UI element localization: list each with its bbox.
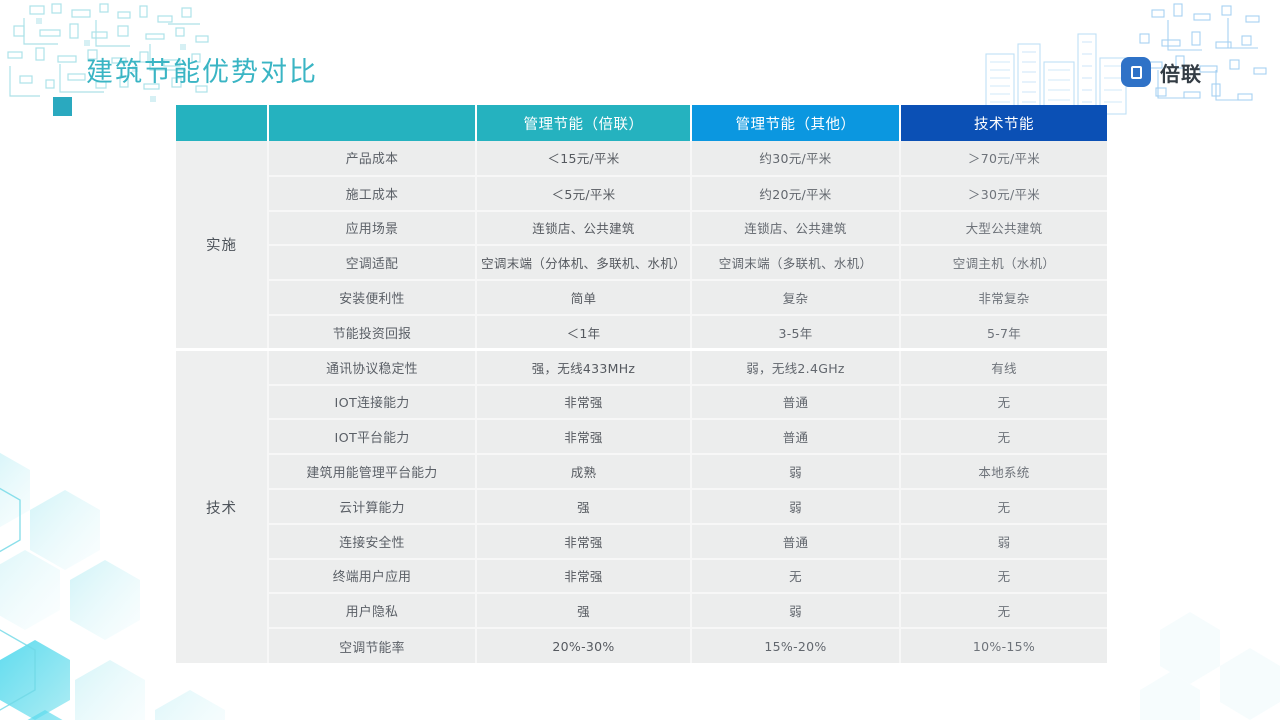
cell-v2: 弱 bbox=[691, 593, 900, 628]
table-header-row: 管理节能（倍联） 管理节能（其他） 技术节能 bbox=[176, 105, 1107, 141]
cell-v2: 普通 bbox=[691, 385, 900, 420]
row-group-label: 实施 bbox=[176, 141, 268, 350]
cell-v2: 约20元/平米 bbox=[691, 176, 900, 211]
metric-label: 连接安全性 bbox=[268, 524, 476, 559]
metric-label: 节能投资回报 bbox=[268, 315, 476, 350]
cell-v1: 连锁店、公共建筑 bbox=[476, 211, 691, 246]
table-row: 云计算能力强弱无 bbox=[176, 489, 1107, 524]
table-row: 施工成本＜5元/平米约20元/平米＞30元/平米 bbox=[176, 176, 1107, 211]
cell-v2: 连锁店、公共建筑 bbox=[691, 211, 900, 246]
cell-v2: 3-5年 bbox=[691, 315, 900, 350]
cell-v2: 普通 bbox=[691, 419, 900, 454]
accent-square bbox=[53, 97, 72, 116]
header-col-beilian: 管理节能（倍联） bbox=[476, 105, 691, 141]
cell-v3: 5-7年 bbox=[900, 315, 1107, 350]
cell-v3: ＞30元/平米 bbox=[900, 176, 1107, 211]
cell-v1: 非常强 bbox=[476, 524, 691, 559]
cell-v1: 非常强 bbox=[476, 385, 691, 420]
logo-inner-shape bbox=[1131, 66, 1142, 79]
cell-v3: 有线 bbox=[900, 350, 1107, 385]
table-row: IOT平台能力非常强普通无 bbox=[176, 419, 1107, 454]
cell-v3: 无 bbox=[900, 559, 1107, 594]
cell-v3: ＞70元/平米 bbox=[900, 141, 1107, 176]
cell-v3: 10%-15% bbox=[900, 628, 1107, 663]
brand-name: 倍联 bbox=[1160, 58, 1202, 87]
table-row: 连接安全性非常强普通弱 bbox=[176, 524, 1107, 559]
table-row: 空调适配空调末端（分体机、多联机、水机）空调末端（多联机、水机）空调主机（水机） bbox=[176, 245, 1107, 280]
table-row: 终端用户应用非常强无无 bbox=[176, 559, 1107, 594]
metric-label: 终端用户应用 bbox=[268, 559, 476, 594]
metric-label: 通讯协议稳定性 bbox=[268, 350, 476, 385]
cell-v1: 简单 bbox=[476, 280, 691, 315]
metric-label: IOT平台能力 bbox=[268, 419, 476, 454]
cell-v1: ＜15元/平米 bbox=[476, 141, 691, 176]
cell-v2: 空调末端（多联机、水机） bbox=[691, 245, 900, 280]
metric-label: 产品成本 bbox=[268, 141, 476, 176]
cell-v1: 20%-30% bbox=[476, 628, 691, 663]
metric-label: 用户隐私 bbox=[268, 593, 476, 628]
cell-v1: 非常强 bbox=[476, 419, 691, 454]
table-row: 用户隐私强弱无 bbox=[176, 593, 1107, 628]
metric-label: 云计算能力 bbox=[268, 489, 476, 524]
cell-v3: 无 bbox=[900, 489, 1107, 524]
metric-label: 应用场景 bbox=[268, 211, 476, 246]
row-group-label: 技术 bbox=[176, 350, 268, 663]
cell-v1: 强，无线433MHz bbox=[476, 350, 691, 385]
header-col-technical: 技术节能 bbox=[900, 105, 1107, 141]
cell-v2: 弱，无线2.4GHz bbox=[691, 350, 900, 385]
cell-v1: 非常强 bbox=[476, 559, 691, 594]
header-group-blank bbox=[176, 105, 268, 141]
cell-v1: 强 bbox=[476, 593, 691, 628]
table-row: 建筑用能管理平台能力成熟弱本地系统 bbox=[176, 454, 1107, 489]
metric-label: IOT连接能力 bbox=[268, 385, 476, 420]
table-body: 实施产品成本＜15元/平米约30元/平米＞70元/平米施工成本＜5元/平米约20… bbox=[176, 141, 1107, 663]
square-logo-icon bbox=[1121, 57, 1151, 87]
table-row: 技术通讯协议稳定性强，无线433MHz弱，无线2.4GHz有线 bbox=[176, 350, 1107, 385]
cell-v2: 无 bbox=[691, 559, 900, 594]
cell-v3: 本地系统 bbox=[900, 454, 1107, 489]
cell-v1: 成熟 bbox=[476, 454, 691, 489]
page-title: 建筑节能优势对比 bbox=[86, 50, 318, 89]
cell-v2: 复杂 bbox=[691, 280, 900, 315]
metric-label: 空调节能率 bbox=[268, 628, 476, 663]
header-col-other: 管理节能（其他） bbox=[691, 105, 900, 141]
cell-v1: 空调末端（分体机、多联机、水机） bbox=[476, 245, 691, 280]
metric-label: 空调适配 bbox=[268, 245, 476, 280]
metric-label: 施工成本 bbox=[268, 176, 476, 211]
cell-v1: ＜5元/平米 bbox=[476, 176, 691, 211]
table-row: 空调节能率20%-30%15%-20%10%-15% bbox=[176, 628, 1107, 663]
header-metric-blank bbox=[268, 105, 476, 141]
brand-logo: 倍联 bbox=[1121, 57, 1202, 87]
comparison-table: 管理节能（倍联） 管理节能（其他） 技术节能 实施产品成本＜15元/平米约30元… bbox=[176, 105, 1107, 663]
table-row: 节能投资回报＜1年3-5年5-7年 bbox=[176, 315, 1107, 350]
cell-v3: 空调主机（水机） bbox=[900, 245, 1107, 280]
metric-label: 建筑用能管理平台能力 bbox=[268, 454, 476, 489]
cell-v3: 无 bbox=[900, 419, 1107, 454]
table-header: 管理节能（倍联） 管理节能（其他） 技术节能 bbox=[176, 105, 1107, 141]
cell-v1: 强 bbox=[476, 489, 691, 524]
table-row: 安装便利性简单复杂非常复杂 bbox=[176, 280, 1107, 315]
cell-v2: 弱 bbox=[691, 489, 900, 524]
table-row: 实施产品成本＜15元/平米约30元/平米＞70元/平米 bbox=[176, 141, 1107, 176]
cell-v3: 无 bbox=[900, 385, 1107, 420]
cell-v2: 15%-20% bbox=[691, 628, 900, 663]
metric-label: 安装便利性 bbox=[268, 280, 476, 315]
cell-v2: 普通 bbox=[691, 524, 900, 559]
hexagon-pattern-bottomright bbox=[1120, 590, 1280, 720]
cell-v3: 非常复杂 bbox=[900, 280, 1107, 315]
table-row: 应用场景连锁店、公共建筑连锁店、公共建筑大型公共建筑 bbox=[176, 211, 1107, 246]
cell-v1: ＜1年 bbox=[476, 315, 691, 350]
cell-v3: 无 bbox=[900, 593, 1107, 628]
table-row: IOT连接能力非常强普通无 bbox=[176, 385, 1107, 420]
cell-v2: 弱 bbox=[691, 454, 900, 489]
cell-v2: 约30元/平米 bbox=[691, 141, 900, 176]
cell-v3: 弱 bbox=[900, 524, 1107, 559]
cell-v3: 大型公共建筑 bbox=[900, 211, 1107, 246]
